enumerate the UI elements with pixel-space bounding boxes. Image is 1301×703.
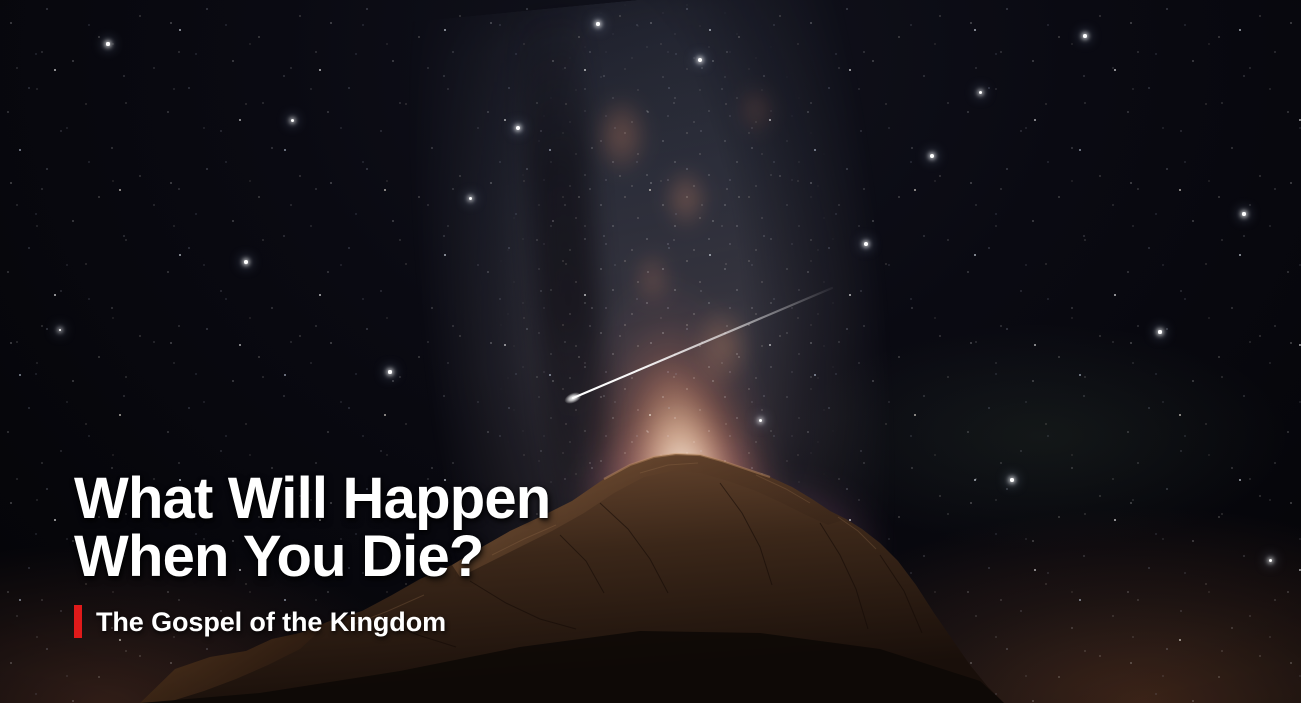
bright-star (596, 22, 599, 25)
bright-star (59, 329, 62, 332)
bright-star (1158, 330, 1161, 333)
bright-star (1242, 212, 1245, 215)
bright-star (291, 119, 294, 122)
bright-star (1083, 34, 1087, 38)
subtitle-row: The Gospel of the Kingdom (74, 605, 694, 638)
bright-star (244, 260, 248, 264)
bright-star (516, 126, 521, 131)
bright-star (698, 58, 702, 62)
bright-star (469, 197, 472, 200)
title-slide: What Will Happen When You Die? The Gospe… (0, 0, 1301, 703)
page-title: What Will Happen When You Die? (74, 470, 694, 586)
bright-star (106, 42, 109, 45)
page-subtitle: The Gospel of the Kingdom (96, 607, 446, 637)
accent-bar (74, 605, 82, 638)
bright-star (930, 154, 934, 158)
bright-star (388, 370, 391, 373)
milky-way-dust-knots (560, 60, 840, 480)
bright-star (979, 91, 982, 94)
bright-star (759, 419, 762, 422)
bright-star (864, 242, 868, 246)
title-text-block: What Will Happen When You Die? The Gospe… (74, 470, 694, 638)
